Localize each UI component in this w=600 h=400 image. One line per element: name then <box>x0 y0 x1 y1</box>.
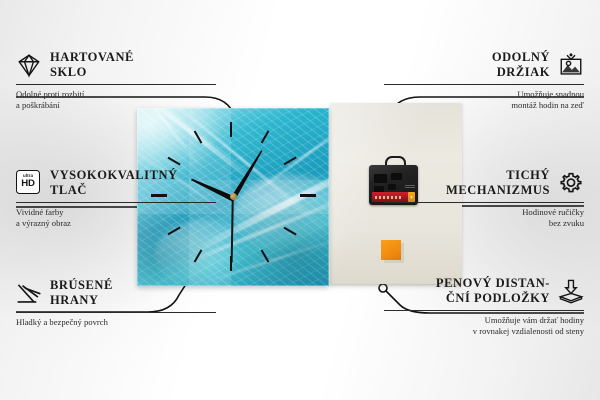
ultra-hd-badge-icon: ultra HD <box>16 170 42 196</box>
feature-header: HARTOVANÉ SKLO <box>16 50 216 79</box>
feature-title: BRÚSENÉ HRANY <box>50 278 113 307</box>
feature-header: ODOLNÝ DRŽIAK <box>384 50 584 79</box>
feature-header: BRÚSENÉ HRANY <box>16 278 216 307</box>
feature-divider <box>384 84 584 85</box>
feature-description: Odolné proti rozbití a poškrábání <box>16 89 216 111</box>
feature-divider <box>384 202 584 203</box>
feature-foam-spacers: PENOVÝ DISTAN- ČNÍ PODLOŽKY Umožňuje vám… <box>384 276 584 337</box>
diagonal-lines-icon <box>16 280 42 306</box>
feature-header: ultra HD VYSOKOKVALITNÝ TLAČ <box>16 168 216 197</box>
feature-durable-holder: ODOLNÝ DRŽIAK Umožňuje snadnou montáž ho… <box>384 50 584 111</box>
feature-description: Hladký a bezpečný povrch <box>16 317 216 328</box>
feature-ground-edges: BRÚSENÉ HRANY Hladký a bezpečný povrch <box>16 278 216 328</box>
feature-silent-mechanism: TICHÝ MECHANIZMUS Hodinové ručičky bez z… <box>384 168 584 229</box>
feature-hq-print: ultra HD VYSOKOKVALITNÝ TLAČ Vividné far… <box>16 168 216 229</box>
foam-spacer-pad <box>381 240 401 260</box>
diamond-icon <box>16 52 42 78</box>
feature-tempered-glass: HARTOVANÉ SKLO Odolné proti rozbití a po… <box>16 50 216 111</box>
gear-icon <box>558 170 584 196</box>
feature-divider <box>16 84 216 85</box>
feature-title: VYSOKOKVALITNÝ TLAČ <box>50 168 178 197</box>
feature-title: ODOLNÝ DRŽIAK <box>492 50 550 79</box>
feature-divider <box>16 202 216 203</box>
arrow-press-pad-icon <box>558 278 584 304</box>
infographic-canvas: HARTOVANÉ SKLO Odolné proti rozbití a po… <box>0 0 600 400</box>
feature-title: HARTOVANÉ SKLO <box>50 50 134 79</box>
feature-description: Vividné farby a výrazný obraz <box>16 207 216 229</box>
feature-divider <box>384 310 584 311</box>
feature-divider <box>16 312 216 313</box>
feature-title: PENOVÝ DISTAN- ČNÍ PODLOŽKY <box>436 276 550 305</box>
badge-hd-text: HD <box>21 179 34 189</box>
hanging-picture-frame-icon <box>558 52 584 78</box>
feature-description: Hodinové ručičky bez zvuku <box>384 207 584 229</box>
feature-header: TICHÝ MECHANIZMUS <box>384 168 584 197</box>
feature-header: PENOVÝ DISTAN- ČNÍ PODLOŽKY <box>384 276 584 305</box>
feature-title: TICHÝ MECHANIZMUS <box>446 168 550 197</box>
feature-description: Umožňuje vám držať hodiny v rovnakej vzd… <box>384 315 584 337</box>
feature-description: Umožňuje snadnou montáž hodin na zeď <box>384 89 584 111</box>
